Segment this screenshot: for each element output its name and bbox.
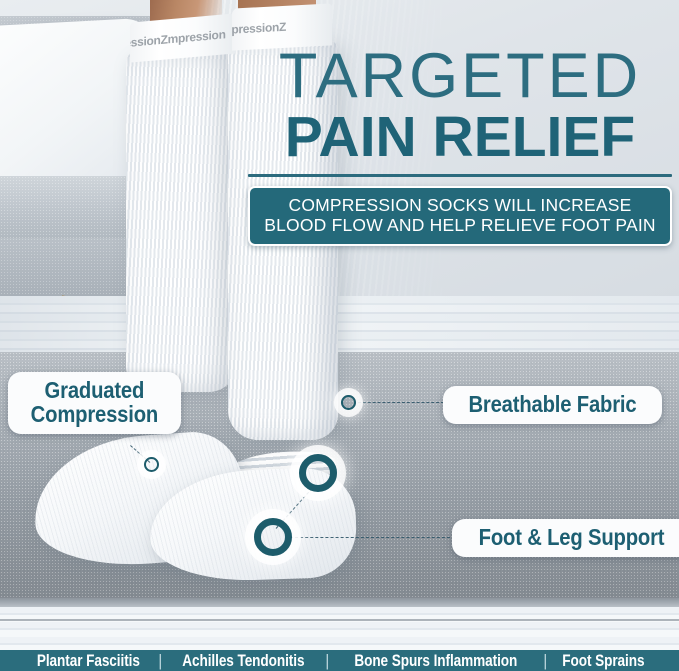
condition-item: Bone Spurs Inflammation xyxy=(354,652,519,669)
connector-line-breathable xyxy=(358,402,444,403)
conditions-strip: Plantar Fasciitis|Achilles Tendonitis|Bo… xyxy=(0,650,679,671)
callout-marker-breathable-fabric xyxy=(341,395,356,410)
callout-graduated-compression: Graduated Compression xyxy=(8,372,181,434)
condition-item: Plantar Fasciitis xyxy=(36,652,141,669)
condition-separator: | xyxy=(155,652,165,669)
callout-breathable-label: Breathable Fabric xyxy=(468,393,636,416)
headline-block: TARGETED PAIN RELIEF COMPRESSION SOCKS W… xyxy=(248,46,672,246)
callout-support-label: Foot & Leg Support xyxy=(479,526,665,549)
condition-item: Foot Sprains xyxy=(562,652,646,669)
connector-line-support xyxy=(290,537,455,538)
callout-breathable-fabric: Breathable Fabric xyxy=(443,386,662,424)
condition-separator: | xyxy=(540,652,550,669)
headline-line-1: TARGETED xyxy=(248,46,672,106)
headline-line-2: PAIN RELIEF xyxy=(248,108,672,166)
headline-divider-rule xyxy=(248,174,672,177)
cuff-brand-text-left: ressionZmpression xyxy=(130,27,226,50)
callout-graduated-line-2: Compression xyxy=(31,403,158,426)
callout-graduated-line-1: Graduated xyxy=(31,379,158,402)
callout-marker-ankle-support xyxy=(299,454,337,492)
conditions-list: Plantar Fasciitis|Achilles Tendonitis|Bo… xyxy=(23,652,656,669)
condition-separator: | xyxy=(322,652,332,669)
product-marketing-image: ressionZmpression ompressionZ TARGETED P… xyxy=(0,0,679,671)
sock-left-calf xyxy=(126,52,238,392)
cuff-brand-text-right: ompressionZ xyxy=(232,20,286,38)
callout-marker-foot-support xyxy=(254,518,292,556)
benefit-banner-line-2: BLOOD FLOW AND HELP RELIEVE FOOT PAIN xyxy=(258,215,662,236)
benefit-banner-line-1: COMPRESSION SOCKS WILL INCREASE xyxy=(258,195,662,216)
callout-foot-leg-support: Foot & Leg Support xyxy=(452,519,679,557)
condition-item: Achilles Tendonitis xyxy=(182,652,306,669)
benefit-banner: COMPRESSION SOCKS WILL INCREASE BLOOD FL… xyxy=(248,186,672,246)
callout-marker-graduated-compression xyxy=(144,457,159,472)
